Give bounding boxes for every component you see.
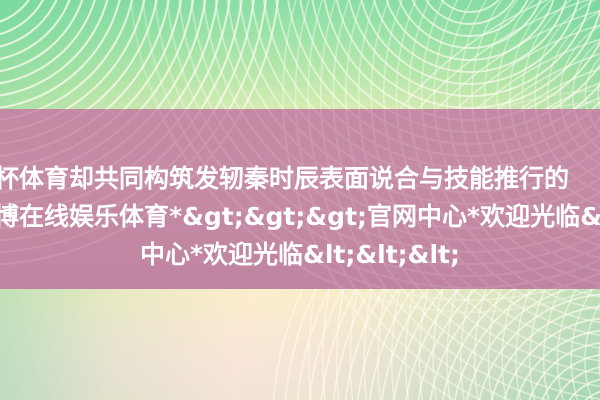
decorative-banner: 杯体育却共同构筑发轫秦时辰表面说合与技能推行的 博在线娱乐体育*&gt;&gt;… [0,0,600,400]
band-arc-echo [0,109,600,289]
color-band [0,109,600,289]
